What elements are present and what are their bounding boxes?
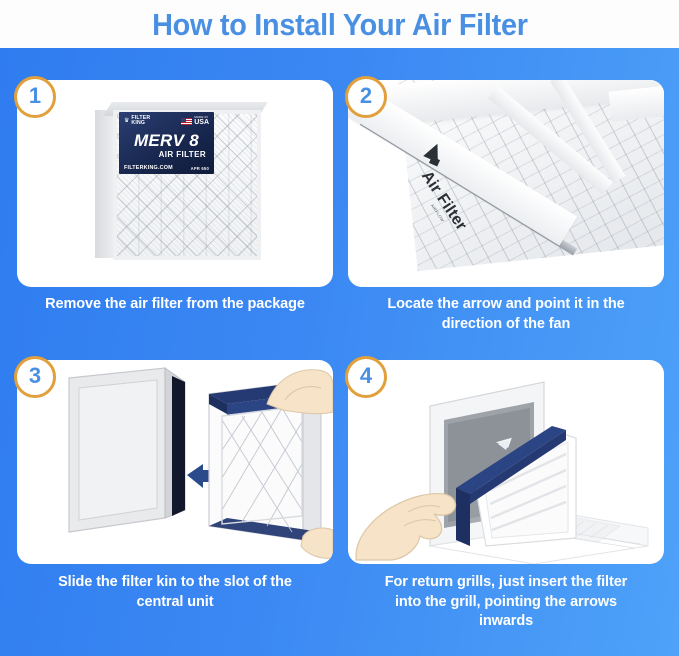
caption-line: Remove the air filter from the package <box>17 295 333 315</box>
made-in-usa-text: MADE IN USA <box>194 116 209 126</box>
step-2-card: Air Filter AIRFLOW <box>348 80 664 287</box>
caption-line: For return grills, just insert the filte… <box>348 573 664 593</box>
us-flag-icon <box>181 118 192 125</box>
made-in-usa-mark: MADE IN USA <box>181 116 209 126</box>
hand-holding-filter-bottom <box>301 528 333 558</box>
illustration-slide-filter-into-unit <box>17 360 333 564</box>
step-2-caption: Locate the arrow and point it in the dir… <box>348 295 664 334</box>
caption-line: inwards <box>348 612 664 632</box>
label-top-row: ♛ FILTER KING MADE IN USA <box>124 115 209 127</box>
step-1: ♛ FILTER KING MADE IN USA <box>17 80 333 352</box>
step-3: 3 Slide the filter kin to the slot of th… <box>17 360 333 645</box>
step-3-badge: 3 <box>14 356 56 398</box>
hand-holding-filter-top <box>267 370 333 414</box>
caption-line: central unit <box>17 593 333 613</box>
step-3-number: 3 <box>29 365 41 387</box>
caption-line: direction of the fan <box>348 315 664 335</box>
website-text: FILTERKING.COM <box>124 165 173 171</box>
country-label: USA <box>194 119 209 126</box>
step-1-badge: 1 <box>14 76 56 118</box>
step-2: Air Filter AIRFLOW 2 Locate the arrow an… <box>348 80 664 352</box>
filter-type: AIR FILTER <box>124 150 209 159</box>
step-1-number: 1 <box>29 85 41 107</box>
step-4-badge: 4 <box>345 356 387 398</box>
page-title: How to Install Your Air Filter <box>152 9 528 40</box>
apr-rating: APR 650 <box>191 166 209 171</box>
infographic-page: How to Install Your Air Filter ♛ <box>0 0 679 656</box>
brand-line-2: KING <box>131 120 145 126</box>
illustration-insert-filter-into-grill <box>348 360 664 564</box>
product-photo-air-filter: ♛ FILTER KING MADE IN USA <box>95 102 263 267</box>
merv-rating: MERV 8 <box>124 132 209 149</box>
step-3-card <box>17 360 333 564</box>
photo-filter-corner: Air Filter AIRFLOW <box>348 80 664 287</box>
crown-icon: ♛ <box>124 118 129 124</box>
filter-side-edge <box>95 110 115 258</box>
header-bar: How to Install Your Air Filter <box>0 0 679 48</box>
caption-line: Slide the filter kin to the slot of the <box>17 573 333 593</box>
brand-lockup: ♛ FILTER KING <box>124 116 150 127</box>
steps-grid: ♛ FILTER KING MADE IN USA <box>0 48 679 656</box>
air-handler-unit <box>69 368 185 532</box>
filter-frame-right <box>609 84 664 121</box>
brand-name: FILTER KING <box>131 116 150 127</box>
product-label: ♛ FILTER KING MADE IN USA <box>119 112 214 174</box>
step-2-badge: 2 <box>345 76 387 118</box>
caption-line: Locate the arrow and point it in the <box>348 295 664 315</box>
step-1-card: ♛ FILTER KING MADE IN USA <box>17 80 333 287</box>
hand-inserting-filter <box>356 494 456 560</box>
step-4-caption: For return grills, just insert the filte… <box>348 573 664 632</box>
caption-line: into the grill, pointing the arrows <box>348 593 664 613</box>
step-4-card <box>348 360 664 564</box>
step-1-caption: Remove the air filter from the package <box>17 295 333 315</box>
step-4-number: 4 <box>360 365 372 387</box>
step-3-caption: Slide the filter kin to the slot of the … <box>17 573 333 612</box>
step-2-number: 2 <box>360 85 372 107</box>
step-4: 4 For return grills, just insert the fil… <box>348 360 664 645</box>
label-footer-row: FILTERKING.COM APR 650 <box>124 165 209 171</box>
